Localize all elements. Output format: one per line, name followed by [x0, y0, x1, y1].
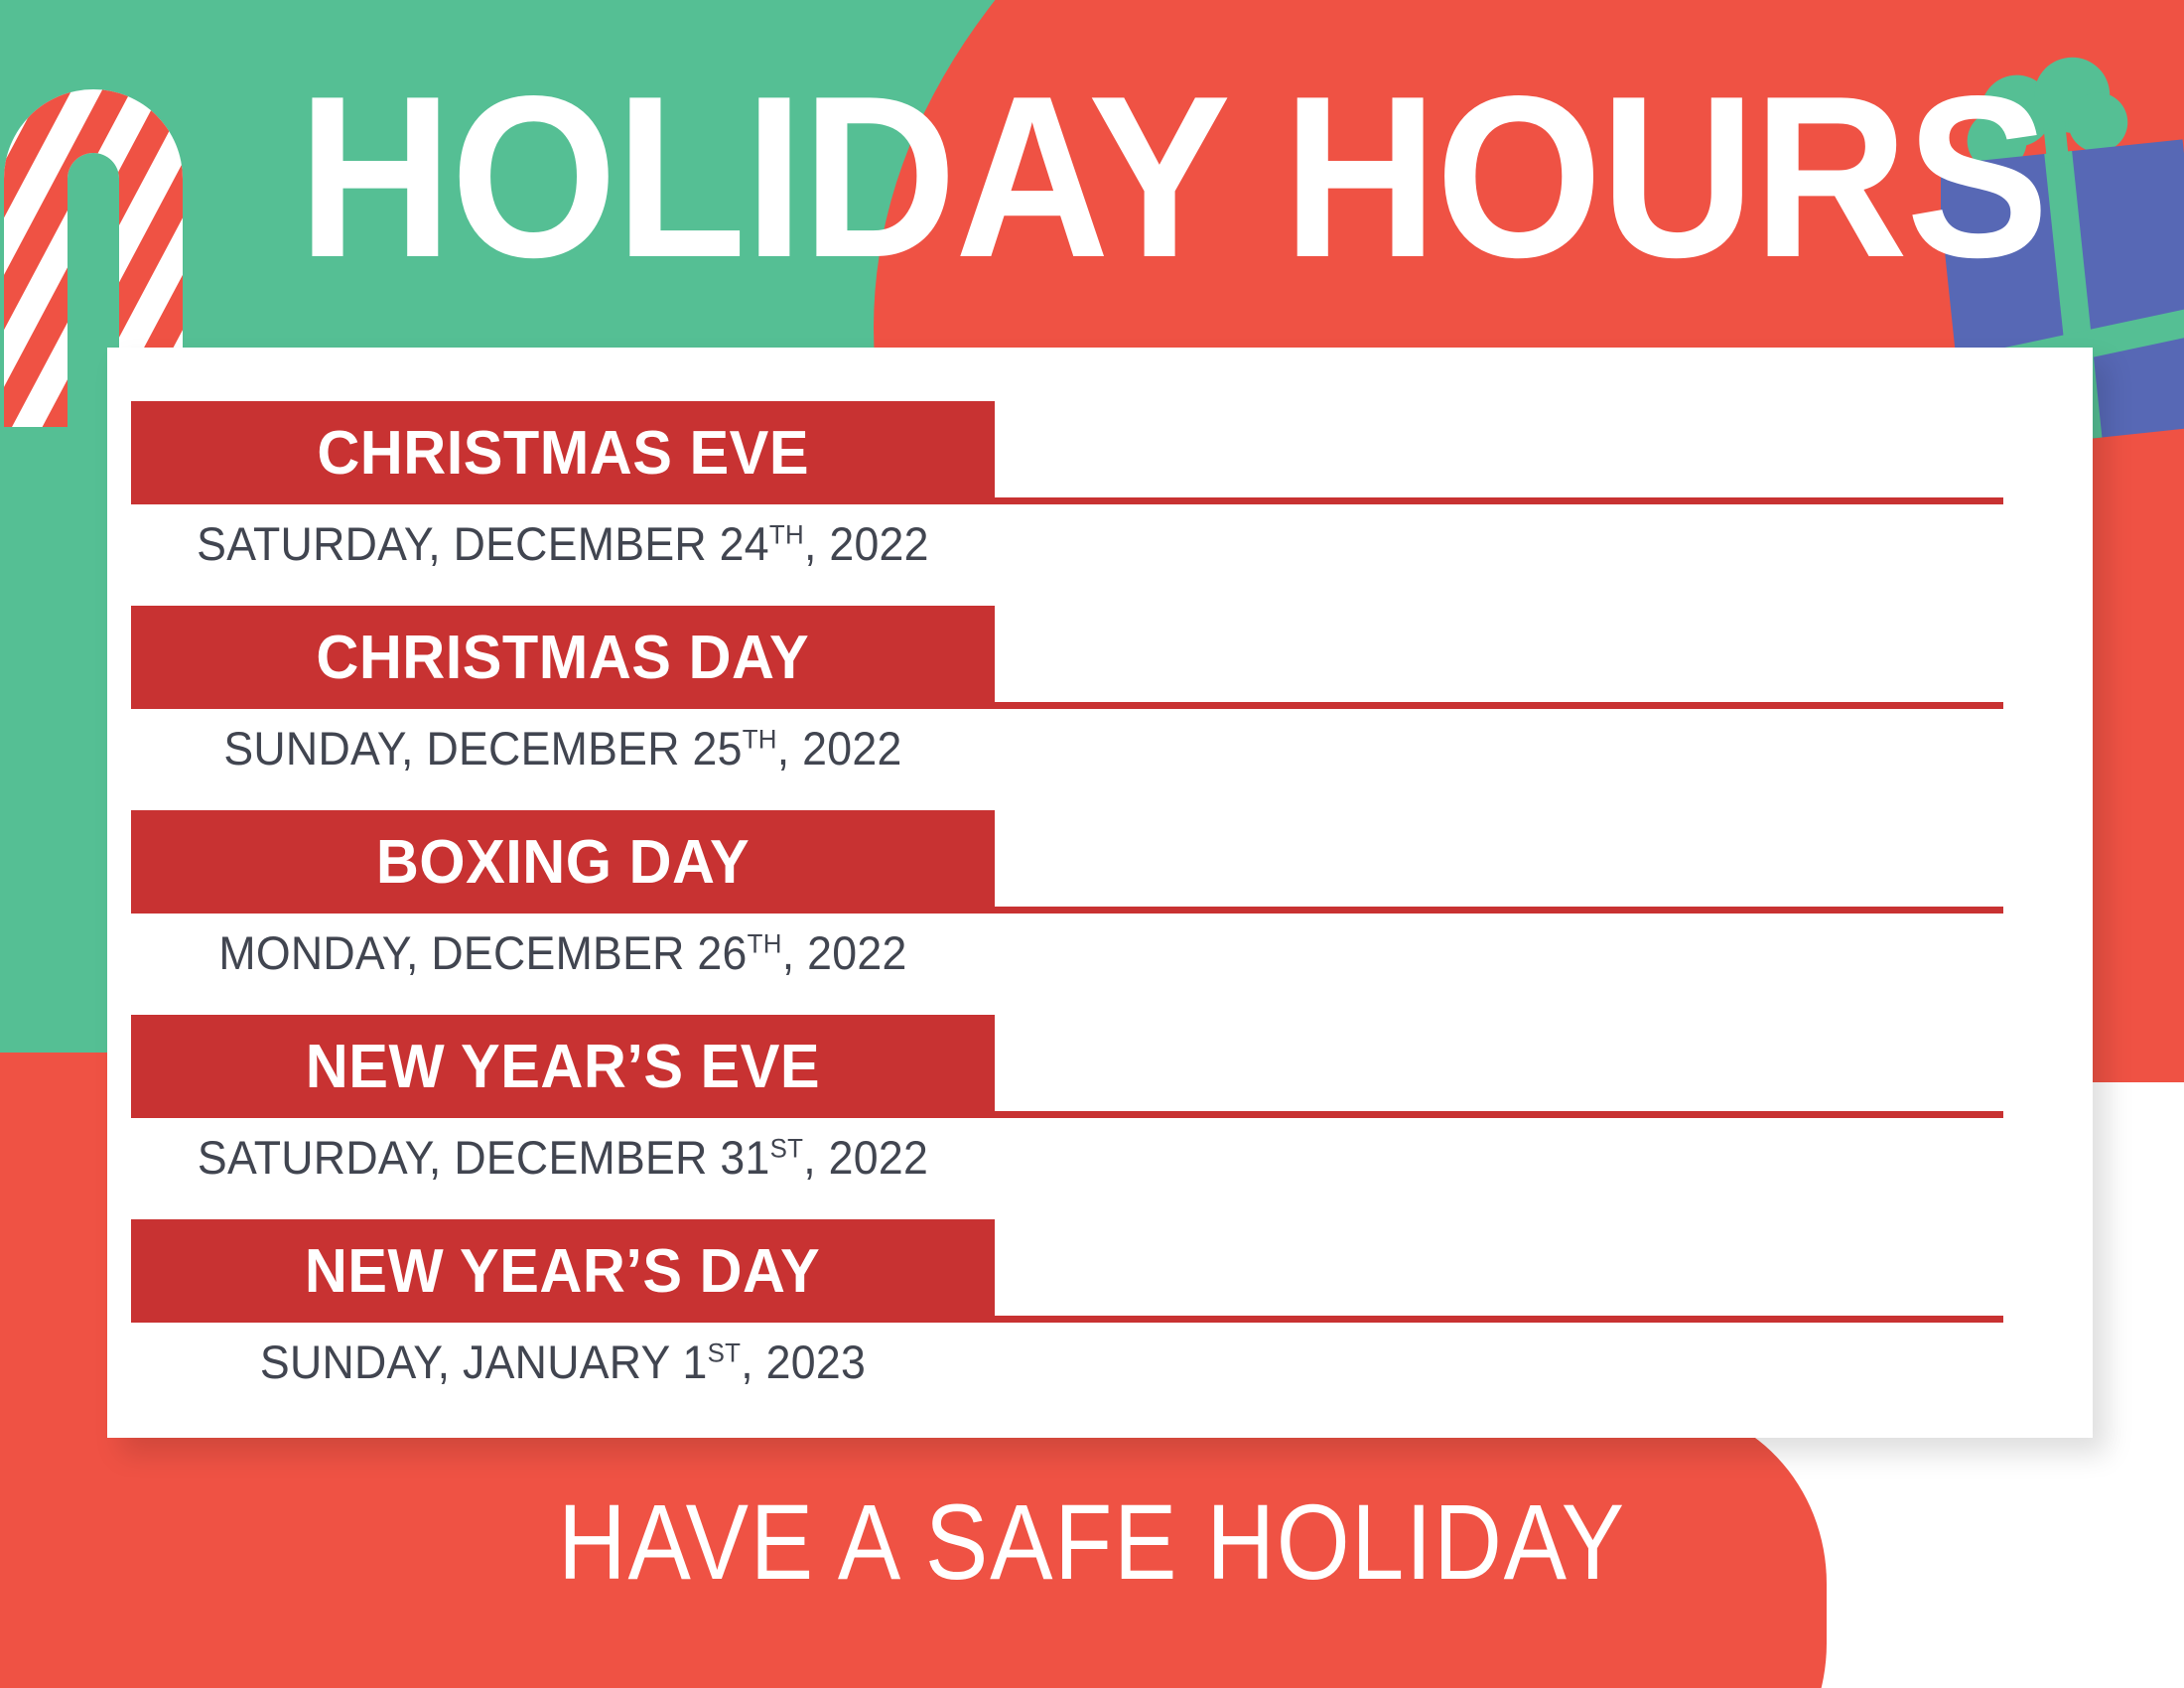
date-prefix: SUNDAY, DECEMBER 25 — [223, 722, 742, 774]
holiday-date: SUNDAY, DECEMBER 25TH, 2022 — [153, 721, 974, 775]
date-prefix: MONDAY, DECEMBER 26 — [218, 926, 747, 979]
holiday-date: MONDAY, DECEMBER 26TH, 2022 — [153, 925, 974, 980]
date-ordinal: TH — [743, 723, 777, 754]
date-suffix: , 2022 — [782, 926, 907, 979]
date-ordinal: TH — [748, 927, 782, 958]
list-item: NEW YEAR’S DAY SUNDAY, JANUARY 1ST, 2023 — [107, 1219, 2093, 1424]
hours-list: CHRISTMAS EVE SATURDAY, DECEMBER 24TH, 2… — [107, 348, 2093, 1424]
label-bar-wrap: NEW YEAR’S EVE — [107, 1015, 2093, 1118]
date-prefix: SATURDAY, DECEMBER 31 — [198, 1131, 770, 1184]
label-bar-wrap: NEW YEAR’S DAY — [107, 1219, 2093, 1323]
holiday-label-bar: CHRISTMAS EVE — [131, 401, 995, 504]
holiday-label-bar: NEW YEAR’S DAY — [131, 1219, 995, 1323]
date-prefix: SUNDAY, JANUARY 1 — [260, 1336, 708, 1388]
holiday-label-bar: CHRISTMAS DAY — [131, 606, 995, 709]
date-ordinal: ST — [770, 1132, 804, 1163]
label-bar-wrap: CHRISTMAS DAY — [107, 606, 2093, 709]
holiday-label: NEW YEAR’S DAY — [305, 1236, 820, 1307]
holiday-label: BOXING DAY — [376, 827, 750, 898]
list-item: CHRISTMAS DAY SUNDAY, DECEMBER 25TH, 202… — [107, 606, 2093, 810]
holiday-date: SUNDAY, JANUARY 1ST, 2023 — [153, 1335, 974, 1389]
holiday-label-bar: BOXING DAY — [131, 810, 995, 914]
holiday-label: NEW YEAR’S EVE — [306, 1032, 820, 1102]
date-prefix: SATURDAY, DECEMBER 24 — [197, 517, 769, 570]
footer-message: HAVE A SAFE HOLIDAY — [131, 1479, 2053, 1604]
hours-card: CHRISTMAS EVE SATURDAY, DECEMBER 24TH, 2… — [107, 348, 2093, 1438]
label-bar-wrap: CHRISTMAS EVE — [107, 401, 2093, 504]
holiday-label: CHRISTMAS EVE — [317, 418, 809, 489]
list-item: NEW YEAR’S EVE SATURDAY, DECEMBER 31ST, … — [107, 1015, 2093, 1219]
list-item: CHRISTMAS EVE SATURDAY, DECEMBER 24TH, 2… — [107, 401, 2093, 606]
date-suffix: , 2023 — [741, 1336, 866, 1388]
date-suffix: , 2022 — [803, 1131, 928, 1184]
date-ordinal: ST — [708, 1336, 742, 1367]
holiday-date: SATURDAY, DECEMBER 24TH, 2022 — [153, 516, 974, 571]
holiday-label: CHRISTMAS DAY — [317, 623, 810, 693]
holiday-label-bar: NEW YEAR’S EVE — [131, 1015, 995, 1118]
list-item: BOXING DAY MONDAY, DECEMBER 26TH, 2022 — [107, 810, 2093, 1015]
date-ordinal: TH — [769, 518, 804, 549]
date-suffix: , 2022 — [777, 722, 902, 774]
holiday-date: SATURDAY, DECEMBER 31ST, 2022 — [153, 1130, 974, 1185]
page-title: HOLIDAY HOURS — [298, 71, 1867, 283]
label-bar-wrap: BOXING DAY — [107, 810, 2093, 914]
holiday-hours-poster: HOLIDAY HOURS CHRISTMAS EVE SATURDAY, DE… — [0, 0, 2184, 1688]
date-suffix: , 2022 — [804, 517, 929, 570]
